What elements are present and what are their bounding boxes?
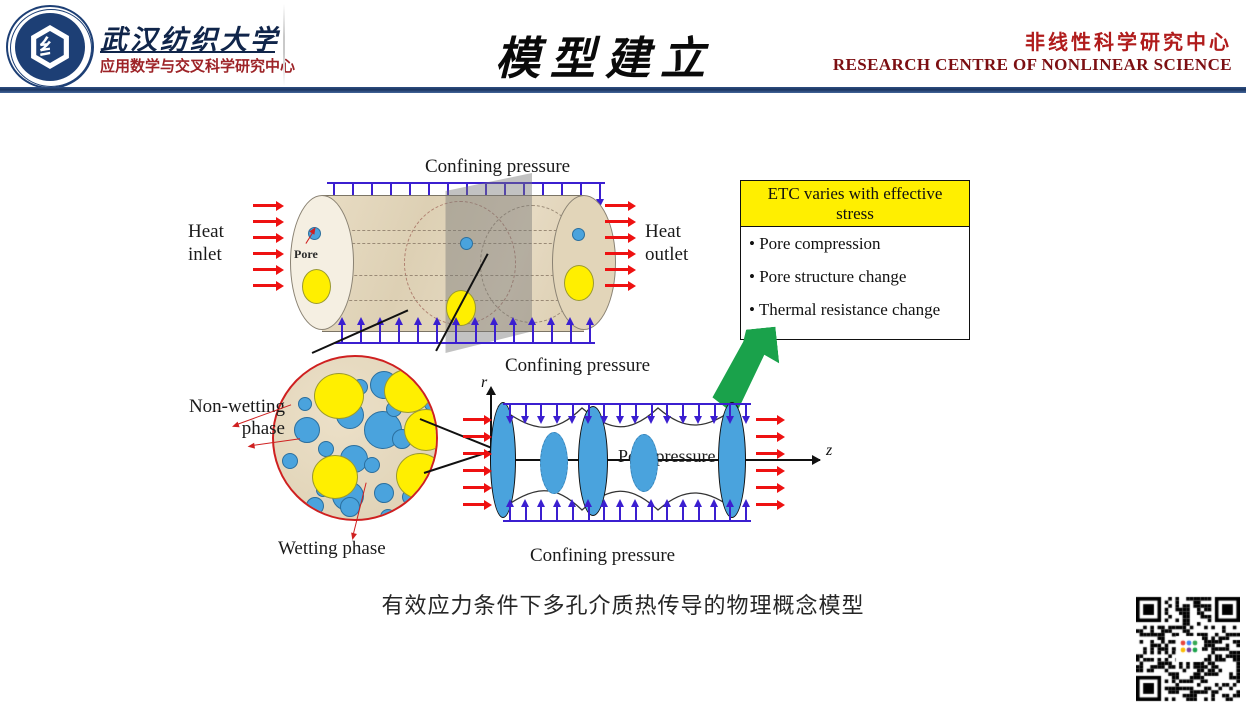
heat-flux-arrow xyxy=(463,503,485,506)
center-name-en: RESEARCH CENTRE OF NONLINEAR SCIENCE xyxy=(833,55,1232,75)
confining-pressure-arrow xyxy=(729,506,731,520)
wetting-pore xyxy=(374,483,394,503)
confining-pressure-arrow xyxy=(570,324,572,342)
confining-pressure-arrow xyxy=(475,324,477,342)
heat-flux-arrow xyxy=(253,252,277,255)
confining-pressure-arrow xyxy=(572,403,574,417)
confining-pressure-arrow xyxy=(455,324,457,342)
etc-list-item: • Pore structure change xyxy=(741,260,969,293)
heat-flux-arrow xyxy=(756,452,778,455)
non-wetting-phase-label: Non-wetting phase xyxy=(180,396,285,440)
non-wetting-line2: phase xyxy=(242,418,285,439)
heat-flux-arrow xyxy=(463,469,485,472)
confining-pressure-arrow xyxy=(651,506,653,520)
rock-cylinder: Pore xyxy=(282,195,622,330)
heat-flux-arrow xyxy=(756,418,778,421)
concept-model-figure: Confining pressure Pore Confining pressu… xyxy=(0,100,1246,600)
z-axis-label: z xyxy=(826,442,832,460)
heat-flux-arrow xyxy=(463,435,485,438)
university-logo-icon: 纟 xyxy=(6,5,94,89)
confining-pressure-arrow xyxy=(714,403,716,417)
confining-pressure-arrow xyxy=(398,324,400,342)
wetting-pore xyxy=(306,497,324,515)
heat-flux-arrow xyxy=(756,486,778,489)
pore-throat-ellipse xyxy=(540,432,568,494)
confining-pressure-arrow xyxy=(379,324,381,342)
confining-pressure-arrow xyxy=(603,506,605,520)
confining-pressure-arrow xyxy=(532,324,534,342)
confining-pressure-arrow xyxy=(745,403,747,417)
non-wetting-line1: Non-wetting xyxy=(189,396,285,417)
heat-flux-arrow xyxy=(253,236,277,239)
heat-inlet-label: Heat inlet xyxy=(188,220,224,266)
heat-flux-arrow xyxy=(253,204,277,207)
nonwetting-pore xyxy=(396,453,438,499)
confining-pressure-arrow xyxy=(698,506,700,520)
confining-pressure-arrow xyxy=(666,403,668,417)
university-name-rule xyxy=(100,51,275,53)
heat-inlet-line2: inlet xyxy=(188,244,222,265)
confining-pressure-arrow xyxy=(588,506,590,520)
confining-pressure-arrow xyxy=(729,403,731,417)
cylinder-right-face xyxy=(552,195,616,330)
nonwetting-pore xyxy=(312,455,358,499)
confining-pressure-arrow xyxy=(745,506,747,520)
wetting-pore xyxy=(460,237,473,250)
heat-outlet-label: Heat outlet xyxy=(645,220,688,266)
heat-flux-arrow xyxy=(605,236,629,239)
figure-caption: 有效应力条件下多孔介质热传导的物理概念模型 xyxy=(0,588,1246,620)
confining-pressure-arrow xyxy=(556,506,558,520)
nonwetting-pore xyxy=(384,369,432,413)
nonwetting-pore xyxy=(564,265,594,301)
cross-section-plane xyxy=(438,173,532,353)
confining-rail xyxy=(335,342,595,344)
heat-flux-arrow xyxy=(605,268,629,271)
heat-flux-arrow xyxy=(253,220,277,223)
confining-pressure-arrow xyxy=(603,403,605,417)
etc-callout-box: ETC varies with effective stress • Pore … xyxy=(740,180,970,340)
confining-pressure-arrow xyxy=(588,403,590,417)
confining-pressure-arrow xyxy=(417,324,419,342)
confining-pressure-arrow xyxy=(682,403,684,417)
heat-flux-arrow xyxy=(253,268,277,271)
confining-pressure-top-label: Confining pressure xyxy=(425,156,570,178)
confining-pressure-arrow xyxy=(635,403,637,417)
pore-label: Pore xyxy=(294,247,318,262)
confining-pressure-arrow xyxy=(556,403,558,417)
wetting-pore xyxy=(364,457,380,473)
heat-flux-arrow xyxy=(605,252,629,255)
r-axis-label: r xyxy=(481,374,487,392)
heat-flux-arrow xyxy=(756,469,778,472)
confining-rail xyxy=(503,520,751,522)
heat-flux-arrow xyxy=(756,503,778,506)
confining-pressure-arrow xyxy=(714,506,716,520)
confining-pressure-arrow xyxy=(551,324,553,342)
university-subtitle-cn: 应用数学与交叉科学研究中心 xyxy=(100,55,295,76)
confining-pressure-arrow xyxy=(509,506,511,520)
confining-pressure-channel-label: Confining pressure xyxy=(530,545,675,567)
heat-flux-arrow xyxy=(253,284,277,287)
confining-pressure-arrow xyxy=(666,506,668,520)
pore-throat-ellipse xyxy=(630,434,658,492)
confining-pressure-arrow xyxy=(525,506,527,520)
header-rule xyxy=(0,87,1246,93)
heat-flux-arrow xyxy=(605,220,629,223)
heat-outlet-line2: outlet xyxy=(645,244,688,265)
confining-pressure-arrow xyxy=(525,403,527,417)
center-name-cn: 非线性科学研究中心 xyxy=(1025,26,1232,55)
cylinder-left-face xyxy=(290,195,354,330)
nonwetting-pore xyxy=(314,373,364,419)
heat-flux-arrow xyxy=(605,204,629,207)
wetting-pore xyxy=(282,453,298,469)
page-title: 模型建立 xyxy=(440,22,770,87)
confining-pressure-arrow xyxy=(360,324,362,342)
etc-list-item: • Thermal resistance change xyxy=(741,293,969,326)
wetting-pore xyxy=(380,509,396,521)
etc-box-title: ETC varies with effective stress xyxy=(741,181,969,227)
nonwetting-pore xyxy=(302,269,331,304)
confining-pressure-arrow xyxy=(509,403,511,417)
heat-flux-arrow xyxy=(463,452,485,455)
confining-pressure-arrow xyxy=(619,403,621,417)
header-divider xyxy=(283,4,285,86)
confining-pressure-arrow xyxy=(651,403,653,417)
wetting-pore xyxy=(572,228,585,241)
heat-flux-arrow xyxy=(463,486,485,489)
confining-pressure-arrow xyxy=(682,506,684,520)
confining-pressure-arrow xyxy=(540,506,542,520)
slide-header: 纟 武汉纺织大学 应用数学与交叉科学研究中心 模型建立 非线性科学研究中心 RE… xyxy=(0,0,1246,95)
confining-pressure-arrow xyxy=(698,403,700,417)
wetting-pore xyxy=(298,397,312,411)
confining-pressure-arrow xyxy=(572,506,574,520)
confining-pressure-arrow xyxy=(635,506,637,520)
heat-outlet-line1: Heat xyxy=(645,221,681,242)
wetting-phase-label: Wetting phase xyxy=(278,538,386,560)
etc-box-list: • Pore compression• Pore structure chang… xyxy=(741,227,969,326)
etc-list-item: • Pore compression xyxy=(741,227,969,260)
confining-pressure-arrow xyxy=(589,324,591,342)
heat-flux-arrow xyxy=(605,284,629,287)
confining-pressure-arrow xyxy=(436,324,438,342)
heat-flux-arrow xyxy=(756,435,778,438)
confining-pressure-bottom-label: Confining pressure xyxy=(505,355,650,377)
heat-inlet-line1: Heat xyxy=(188,221,224,242)
confining-pressure-arrow xyxy=(494,324,496,342)
wechat-qr-code xyxy=(1136,596,1240,702)
confining-pressure-arrow xyxy=(513,324,515,342)
heat-flux-arrow xyxy=(463,418,485,421)
confining-pressure-arrow xyxy=(619,506,621,520)
confining-pressure-arrow xyxy=(540,403,542,417)
